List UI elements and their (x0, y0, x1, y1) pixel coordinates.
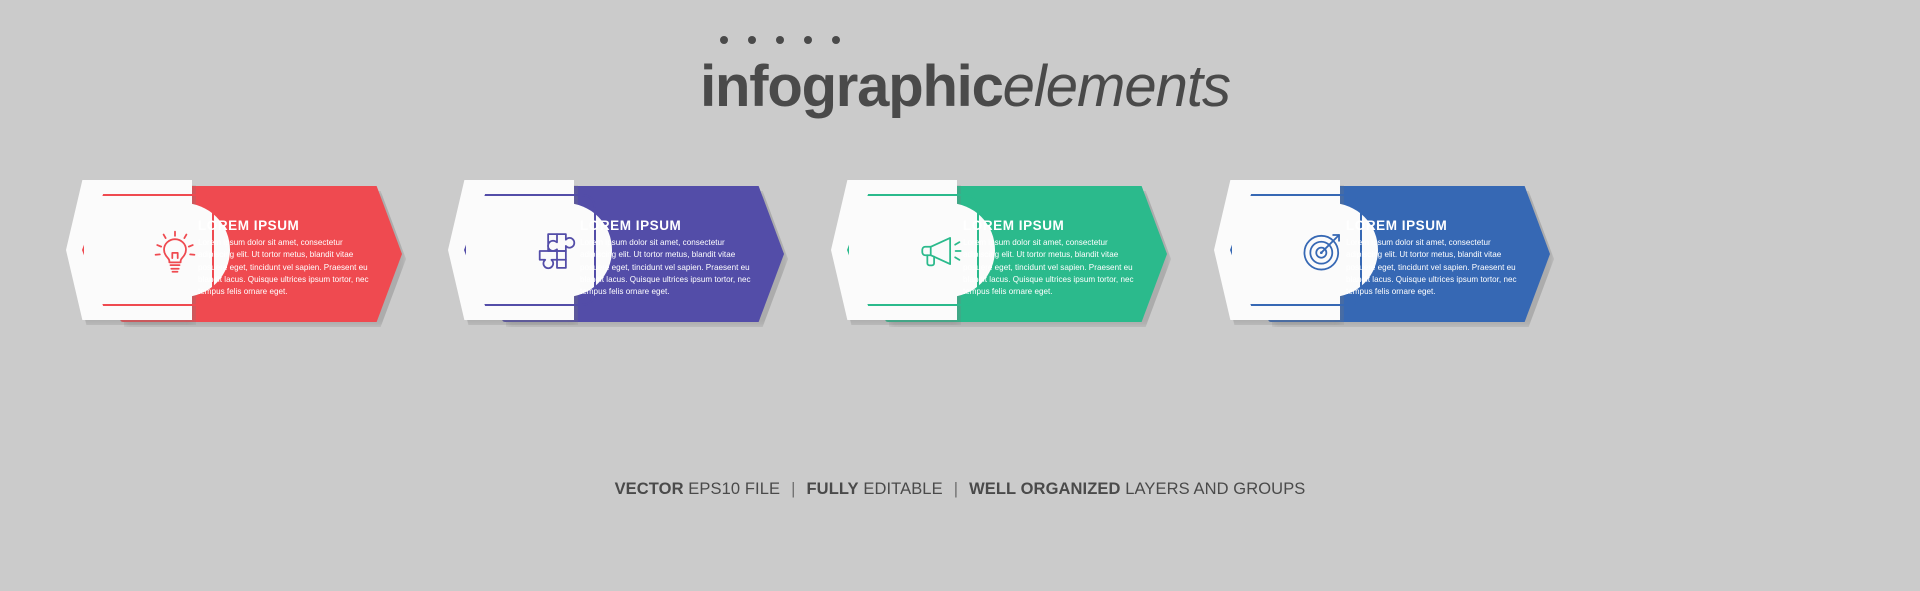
footer-separator: | (943, 480, 969, 499)
decorative-dots-row (720, 36, 840, 44)
card-description: Lorem ipsum dolor sit amet, consectetur … (963, 237, 1141, 298)
megaphone-icon (913, 224, 967, 278)
card-text-block: LOREM IPSUM Lorem ipsum dolor sit amet, … (963, 218, 1141, 298)
infographic-card-4[interactable]: LOREM IPSUM Lorem ipsum dolor sit amet, … (1178, 178, 1548, 330)
page-title-italic: elements (1003, 54, 1230, 119)
footer-separator: | (780, 480, 806, 499)
card-heading: LOREM IPSUM (963, 218, 1141, 233)
header: infographicelements (0, 0, 1920, 150)
card-heading: LOREM IPSUM (1346, 218, 1524, 233)
footer-credits: VECTOR EPS10 FILE|FULLY EDITABLE|WELL OR… (0, 480, 1920, 499)
page-title-bold: infographic (700, 54, 1003, 119)
infographic-card-1[interactable]: LOREM IPSUM Lorem ipsum dolor sit amet, … (30, 178, 400, 330)
infographic-cards-row: LOREM IPSUM Lorem ipsum dolor sit amet, … (0, 178, 1920, 343)
footer-item1-rest: EPS10 FILE (684, 480, 780, 498)
card-text-block: LOREM IPSUM Lorem ipsum dolor sit amet, … (1346, 218, 1524, 298)
footer-item2-bold: FULLY (807, 480, 859, 498)
dot-icon (748, 36, 756, 44)
card-text-block: LOREM IPSUM Lorem ipsum dolor sit amet, … (198, 218, 376, 298)
dot-icon (832, 36, 840, 44)
dot-icon (776, 36, 784, 44)
footer-item1-bold: VECTOR (615, 480, 684, 498)
card-heading: LOREM IPSUM (580, 218, 758, 233)
card-description: Lorem ipsum dolor sit amet, consectetur … (580, 237, 758, 298)
infographic-page: { "header": { "dots_count": 5, "title_bo… (0, 0, 1920, 591)
card-heading: LOREM IPSUM (198, 218, 376, 233)
puzzle-piece-icon (530, 224, 584, 278)
card-text-block: LOREM IPSUM Lorem ipsum dolor sit amet, … (580, 218, 758, 298)
page-title: infographicelements (0, 58, 1230, 116)
card-description: Lorem ipsum dolor sit amet, consectetur … (198, 237, 376, 298)
card-description: Lorem ipsum dolor sit amet, consectetur … (1346, 237, 1524, 298)
infographic-card-2[interactable]: LOREM IPSUM Lorem ipsum dolor sit amet, … (412, 178, 782, 330)
lightbulb-icon (148, 224, 202, 278)
dot-icon (720, 36, 728, 44)
target-dartboard-icon (1296, 224, 1350, 278)
footer-item2-rest: EDITABLE (859, 480, 943, 498)
footer-item3-rest: LAYERS AND GROUPS (1121, 480, 1306, 498)
dot-icon (804, 36, 812, 44)
footer-item3-bold: WELL ORGANIZED (969, 480, 1120, 498)
infographic-card-3[interactable]: LOREM IPSUM Lorem ipsum dolor sit amet, … (795, 178, 1165, 330)
